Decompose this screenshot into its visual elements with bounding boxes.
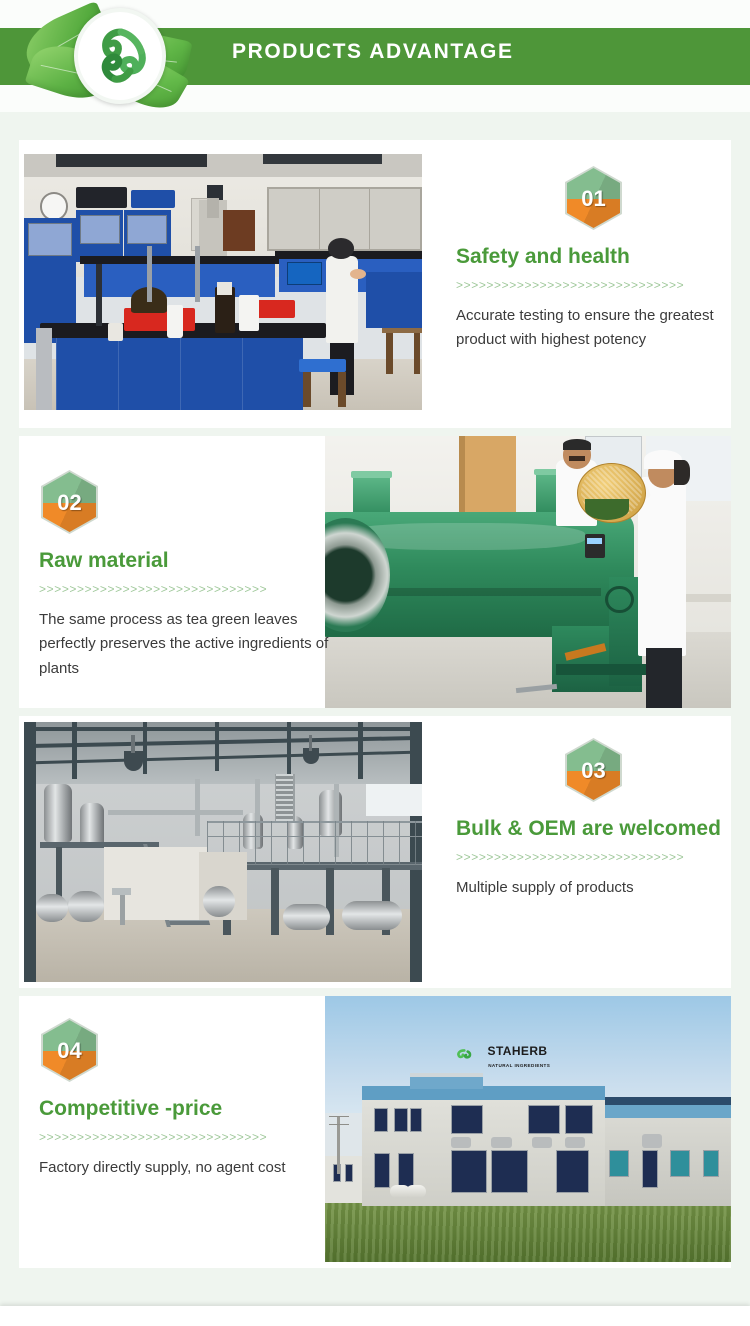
advantage-body: Multiple supply of products (456, 876, 731, 901)
advantage-title: Competitive -price (39, 1096, 329, 1122)
advantage-panel-01: 01 Safety and health >>>>>>>>>>>>>>>>>>>… (456, 166, 731, 353)
rooftop-sign: STAHERB NATURAL INGREDIENTS (459, 1044, 589, 1076)
chevron-divider-icon: >>>>>>>>>>>>>>>>>>>>>>>>>>>>>> (456, 279, 731, 291)
step-badge-01: 01 (565, 166, 622, 230)
step-number: 04 (41, 1018, 98, 1082)
sign-tagline: NATURAL INGREDIENTS (488, 1064, 550, 1069)
advantage-panel-03: 03 Bulk & OEM are welcomed >>>>>>>>>>>>>… (456, 738, 731, 900)
products-advantage-page: PRODUCTS ADVANTAGE (0, 0, 750, 1326)
advantage-title: Bulk & OEM are welcomed (456, 816, 731, 842)
chevron-divider-icon: >>>>>>>>>>>>>>>>>>>>>>>>>>>>>> (456, 851, 731, 863)
factory-building-photo: STAHERB NATURAL INGREDIENTS (325, 996, 731, 1262)
advantage-body: Accurate testing to ensure the greatest … (456, 304, 731, 354)
advantage-card-02: 02 Raw material >>>>>>>>>>>>>>>>>>>>>>>>… (19, 436, 731, 708)
advantage-panel-04: 04 Competitive -price >>>>>>>>>>>>>>>>>>… (39, 1018, 329, 1180)
chevron-divider-icon: >>>>>>>>>>>>>>>>>>>>>>>>>>>>>> (39, 583, 329, 595)
step-badge-03: 03 (565, 738, 622, 802)
step-number: 01 (565, 166, 622, 230)
advantage-title: Raw material (39, 548, 329, 574)
advantage-body: The same process as tea green leaves per… (39, 608, 329, 682)
step-badge-02: 02 (41, 470, 98, 534)
extraction-plant-photo (24, 722, 422, 982)
advantage-title: Safety and health (456, 244, 731, 270)
advantage-body: Factory directly supply, no agent cost (39, 1156, 329, 1181)
roasting-machine-photo (325, 436, 731, 708)
logo-disc-icon (74, 8, 166, 104)
brand-logo (24, 2, 214, 110)
advantage-card-03: 03 Bulk & OEM are welcomed >>>>>>>>>>>>>… (19, 716, 731, 988)
bottom-strip (0, 1306, 750, 1326)
staherb-trefoil-icon (88, 23, 156, 93)
page-header: PRODUCTS ADVANTAGE (0, 0, 750, 112)
advantage-card-01: 01 Safety and health >>>>>>>>>>>>>>>>>>>… (19, 140, 731, 428)
step-number: 03 (565, 738, 622, 802)
advantage-panel-02: 02 Raw material >>>>>>>>>>>>>>>>>>>>>>>>… (39, 470, 329, 682)
sign-brand: STAHERB (488, 1045, 548, 1057)
advantage-card-04: STAHERB NATURAL INGREDIENTS 04 Competiti… (19, 996, 731, 1268)
staherb-logo-icon (450, 1044, 479, 1063)
step-badge-04: 04 (41, 1018, 98, 1082)
step-number: 02 (41, 470, 98, 534)
chevron-divider-icon: >>>>>>>>>>>>>>>>>>>>>>>>>>>>>> (39, 1131, 329, 1143)
laboratory-photo (24, 154, 422, 410)
page-title: PRODUCTS ADVANTAGE (232, 40, 514, 64)
